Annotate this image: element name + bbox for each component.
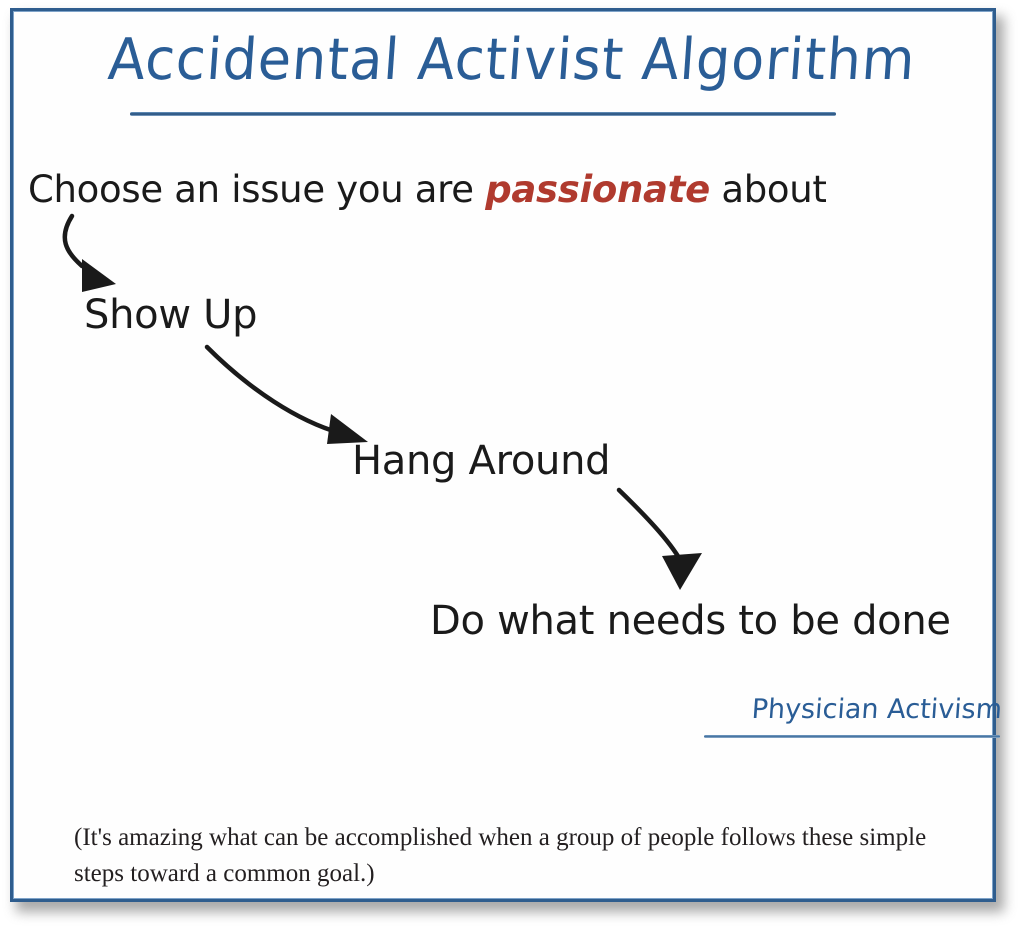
flow-step-1-text-after: about [710,168,827,211]
flow-step-3: Hang Around [352,438,610,484]
footnote-text: (It's amazing what can be accomplished w… [74,820,954,891]
flow-step-1: Choose an issue you are passionate about [28,168,827,211]
flow-step-1-text-before: Choose an issue you are [28,168,485,211]
flow-step-1-emphasis: passionate [485,168,710,211]
attribution-underline-rule [704,735,1000,738]
flow-step-2: Show Up [84,292,257,338]
poster-canvas: Accidental Activist Algorithm Choose an … [0,0,1024,930]
attribution-label: Physician Activism [699,694,1003,725]
flow-step-4: Do what needs to be done [430,598,951,644]
title-underline-rule [130,112,836,116]
page-title: Accidental Activist Algorithm [0,26,1024,93]
